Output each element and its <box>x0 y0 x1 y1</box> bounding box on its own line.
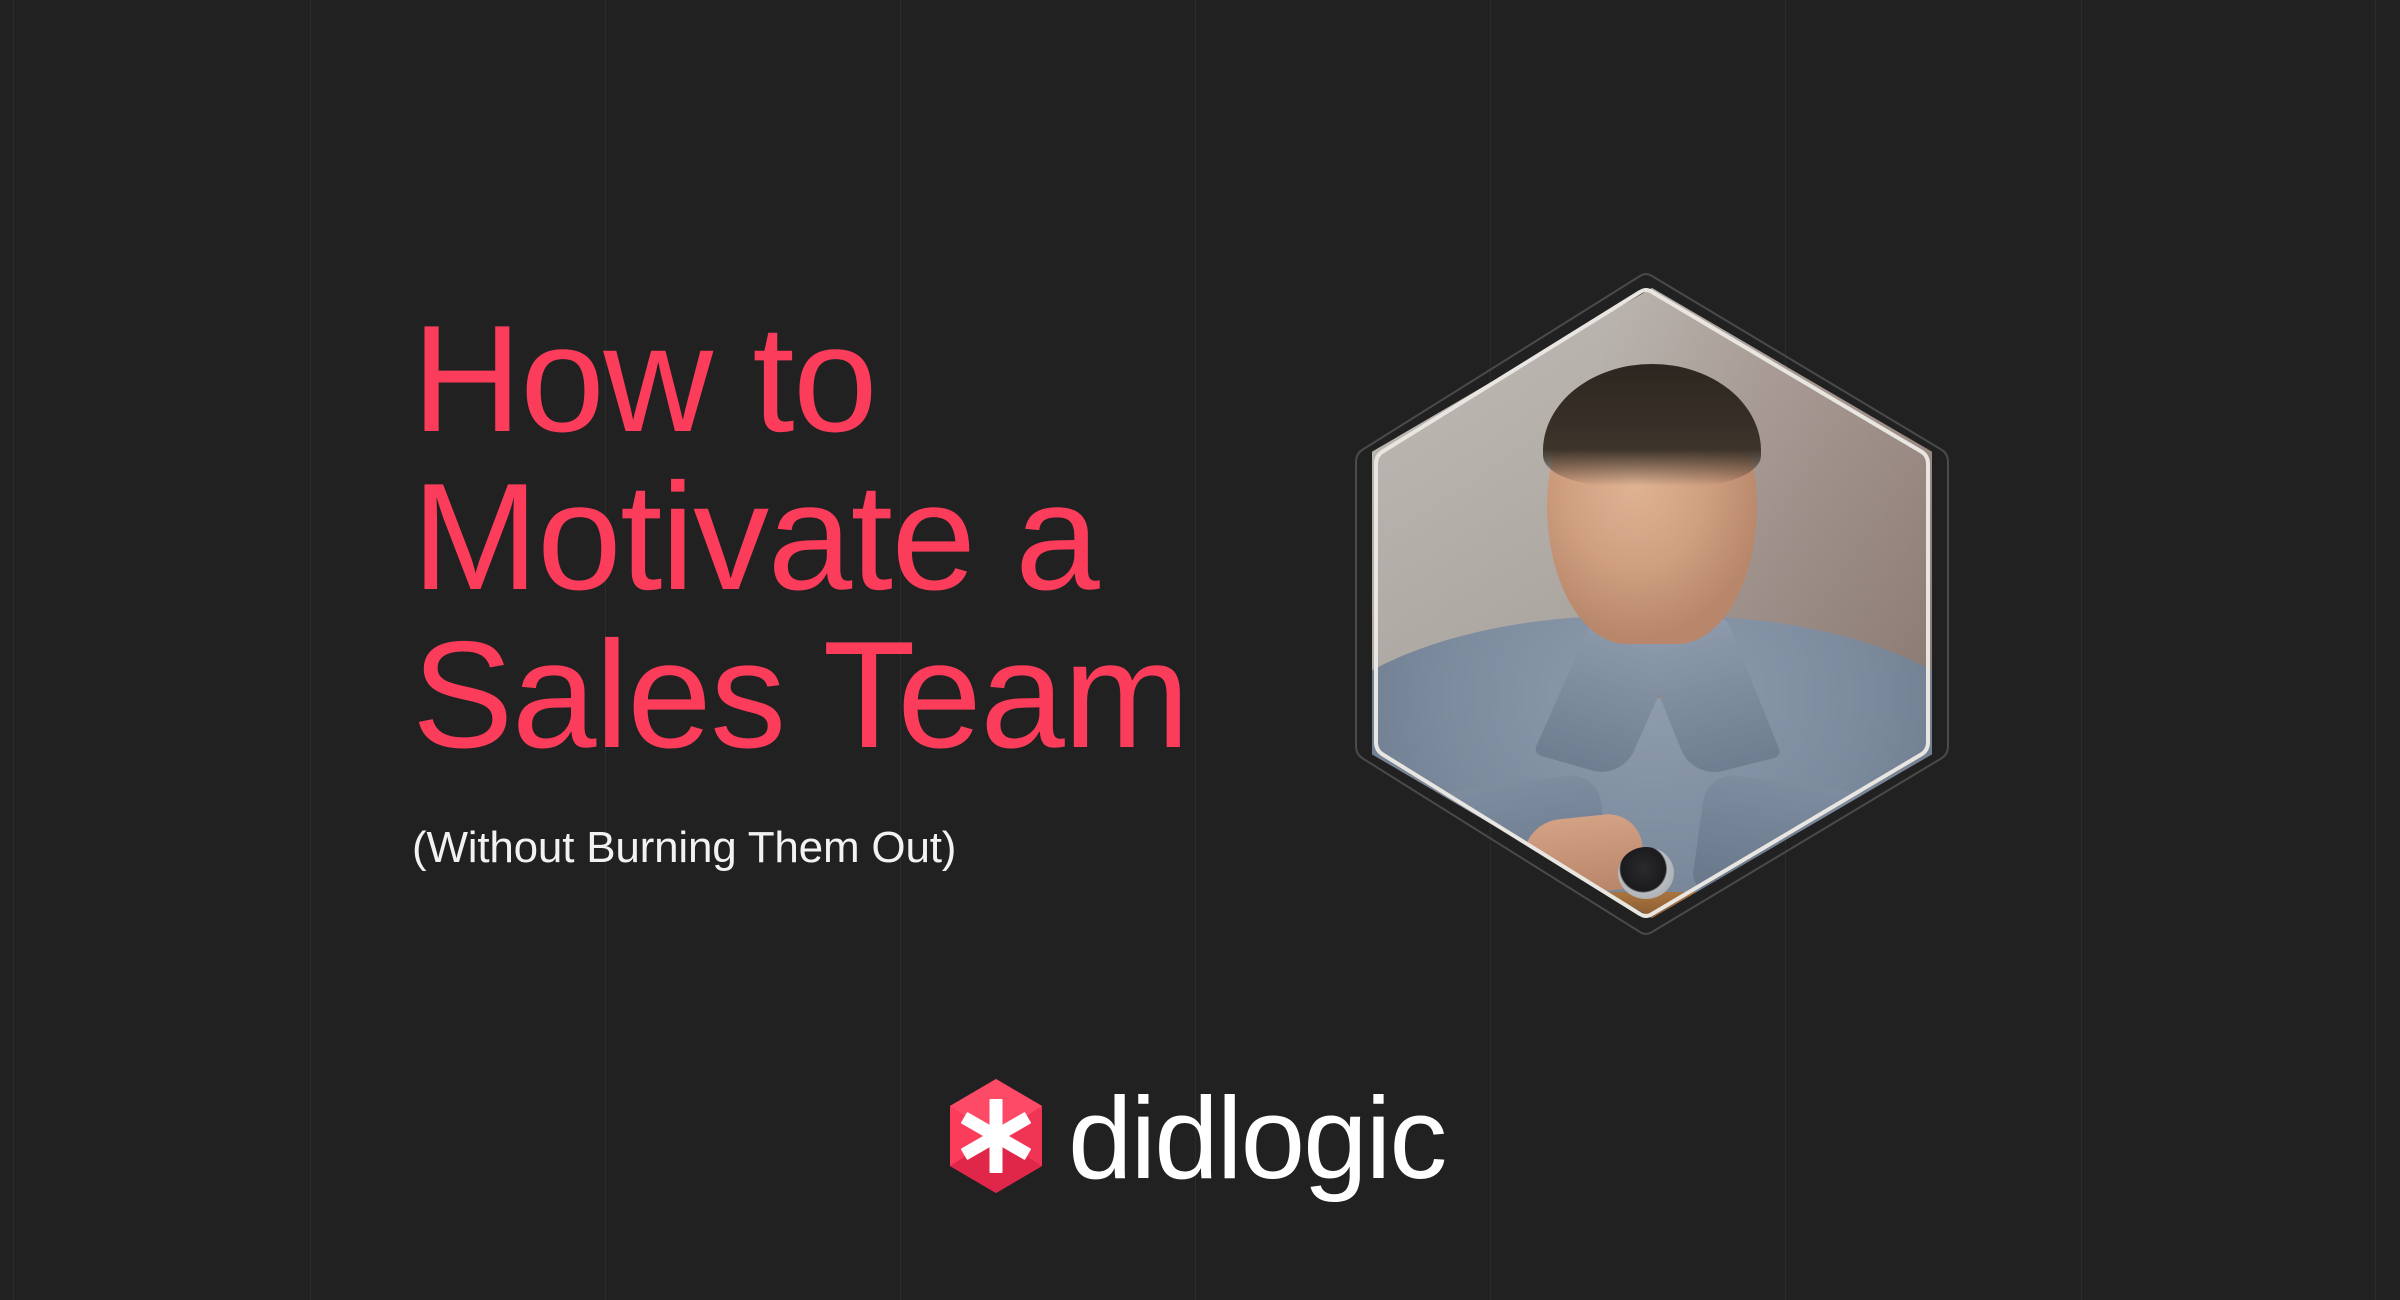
grid-line <box>13 0 14 1300</box>
hero-banner: How to Motivate a Sales Team (Without Bu… <box>0 0 2400 1300</box>
grid-line <box>310 0 311 1300</box>
portrait-hexagon <box>1372 288 1932 918</box>
page-subtitle: (Without Burning Them Out) <box>412 774 1312 875</box>
brand-logo[interactable]: didlogic <box>950 1078 1445 1194</box>
page-title: How to Motivate a Sales Team <box>412 300 1312 774</box>
hero-text-block: How to Motivate a Sales Team (Without Bu… <box>412 300 1312 875</box>
logo-wordmark: didlogic <box>1068 1080 1445 1196</box>
grid-line <box>2375 0 2376 1300</box>
grid-line <box>2081 0 2082 1300</box>
didlogic-hexagon-asterisk-icon <box>950 1079 1042 1193</box>
